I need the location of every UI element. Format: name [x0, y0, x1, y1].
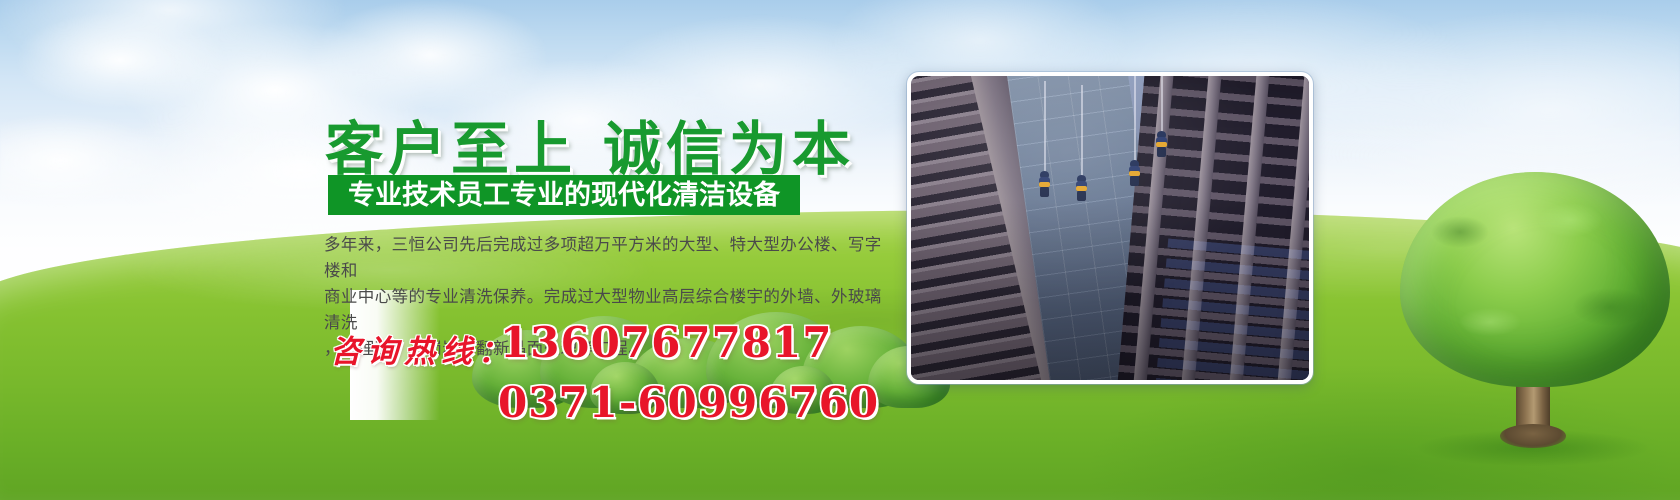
- building-photo-card: [907, 72, 1313, 384]
- tree-canopy: [1400, 172, 1670, 387]
- hotline-landline-number[interactable]: 0371-60996760: [498, 378, 879, 427]
- subtitle-banner: 专业技术员工专业的现代化清洁设备: [328, 175, 800, 215]
- photo-vignette: [911, 76, 1309, 380]
- hotline-mobile-number[interactable]: 13607677817: [500, 318, 832, 367]
- building-photo: [911, 76, 1309, 380]
- hotline-block: 咨询热线： 13607677817 0371-60996760: [330, 322, 850, 422]
- description-line-1: 多年来，三恒公司先后完成过多项超万平方米的大型、特大型办公楼、写字楼和: [324, 232, 890, 284]
- tree-decoration: [1400, 172, 1670, 472]
- headline-part-1: 客户至上: [325, 115, 577, 183]
- subtitle-text: 专业技术员工专业的现代化清洁设备: [348, 182, 780, 209]
- headline-part-2: 诚信为本: [603, 115, 855, 183]
- hotline-label: 咨询热线：: [330, 326, 515, 371]
- hero-banner: 客户至上诚信为本 专业技术员工专业的现代化清洁设备 多年来，三恒公司先后完成过多…: [0, 0, 1680, 500]
- page-title: 客户至上诚信为本: [325, 102, 855, 186]
